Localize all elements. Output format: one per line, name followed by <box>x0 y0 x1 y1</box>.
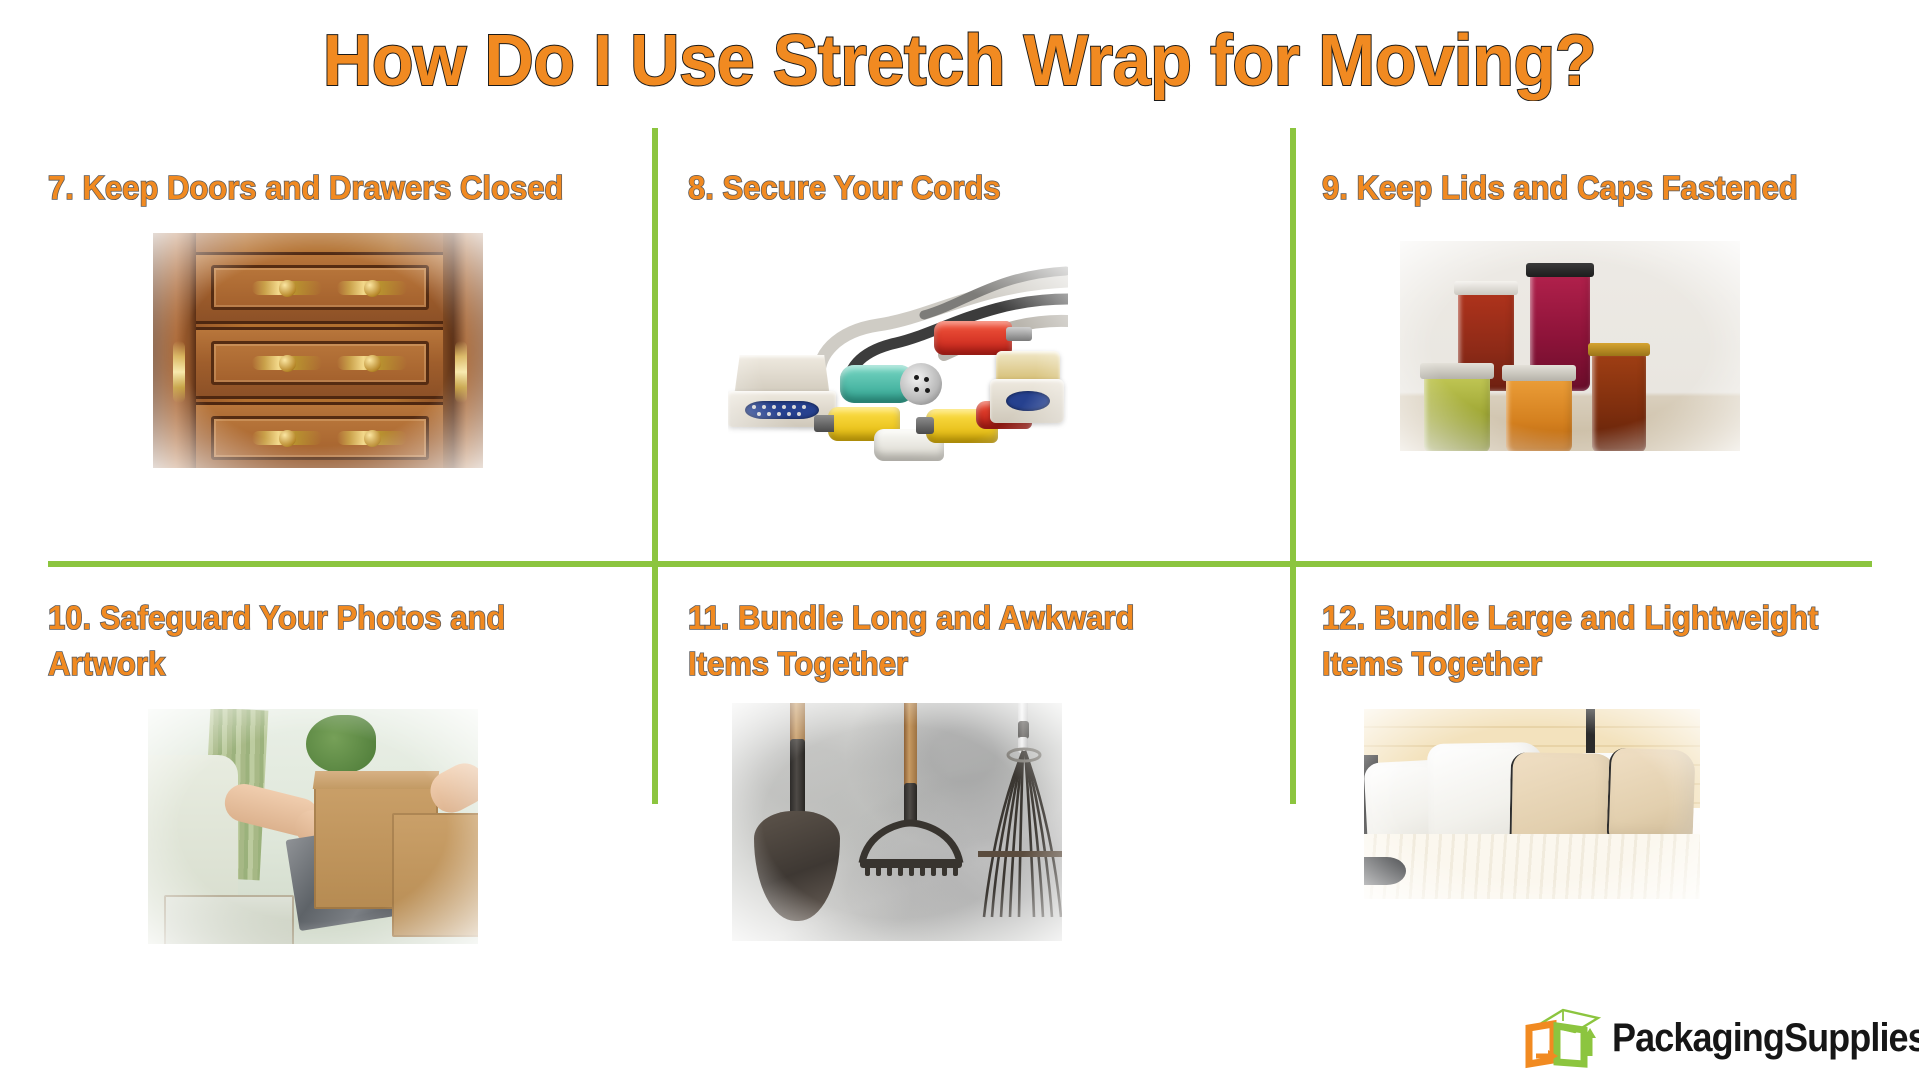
column-divider-2 <box>1290 128 1296 804</box>
card-8-image <box>728 259 1068 474</box>
infographic-canvas: How Do I Use Stretch Wrap for Moving? 7.… <box>0 0 1919 1080</box>
card-8: 8. Secure Your Cords <box>688 165 1248 474</box>
card-7: 7. Keep Doors and Drawers Closed <box>48 165 628 468</box>
card-12-heading: 12. Bundle Large and Lightweight Items T… <box>1322 595 1867 687</box>
card-11-image <box>732 703 1062 941</box>
box-logo-icon <box>1524 1006 1602 1070</box>
card-10: 10. Safeguard Your Photos and Artwork <box>48 595 628 944</box>
row-divider <box>48 561 1872 567</box>
logo-primary-text: PackagingSupplies <box>1612 1016 1919 1061</box>
card-7-heading: 7. Keep Doors and Drawers Closed <box>48 165 593 211</box>
brand-logo[interactable]: PackagingSupplies by mail <box>1524 1006 1919 1070</box>
card-8-heading: 8. Secure Your Cords <box>688 165 1214 211</box>
card-11-heading: 11. Bundle Long and Awkward Items Togeth… <box>688 595 1214 687</box>
column-divider-1 <box>652 128 658 804</box>
page-title: How Do I Use Stretch Wrap for Moving? <box>48 18 1871 104</box>
card-12-image <box>1364 709 1700 899</box>
card-9-heading: 9. Keep Lids and Caps Fastened <box>1322 165 1867 211</box>
card-10-heading: 10. Safeguard Your Photos and Artwork <box>48 595 593 687</box>
card-9-image <box>1400 241 1740 451</box>
card-10-image <box>148 709 478 944</box>
card-7-image <box>153 233 483 468</box>
card-9: 9. Keep Lids and Caps Fastened <box>1322 165 1902 451</box>
card-11: 11. Bundle Long and Awkward Items Togeth… <box>688 595 1248 941</box>
card-12: 12. Bundle Large and Lightweight Items T… <box>1322 595 1902 899</box>
